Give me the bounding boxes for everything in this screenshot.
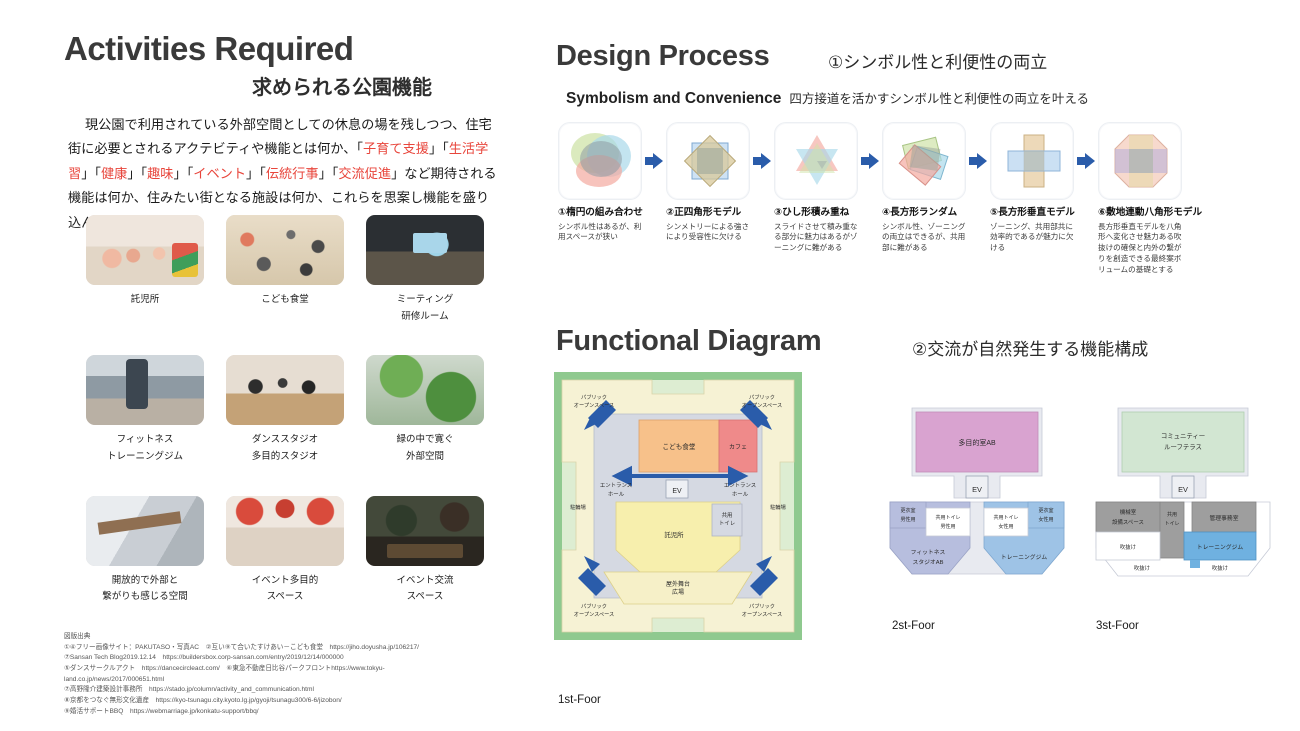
- step-title: ⑥敷地連動八角形モデル: [1098, 207, 1182, 219]
- photo-cell-event-bbq: イベント交流スペース: [366, 496, 484, 606]
- step-shape-square-model-icon: [666, 122, 750, 200]
- svg-text:エントランス: エントランス: [600, 482, 632, 489]
- design-process-subtitle-jp: ①シンボル性と利便性の両立: [828, 48, 1047, 73]
- presentation-board: Activities Required 求められる公園機能 現公園で利用されてい…: [0, 0, 1300, 731]
- photo-caption-line1: 開放的で外部と: [86, 573, 204, 590]
- svg-text:女性用: 女性用: [1038, 516, 1053, 523]
- arrow-right-icon-4: [966, 122, 990, 200]
- photo-row-1: 託児所 こども食堂 ミーティング研修ルーム: [86, 215, 486, 325]
- design-step-4: ④長方形ランダム シンボル性、ゾーニングの両立はできるが、共用部に難がある: [882, 122, 966, 254]
- svg-text:管理事務室: 管理事務室: [1210, 514, 1239, 522]
- svg-text:トイレ: トイレ: [719, 521, 735, 527]
- svg-text:屋外舞台: 屋外舞台: [666, 580, 690, 588]
- floor-plan-1f-caption: 1st-Foor: [558, 694, 601, 706]
- credit-line: ⑨婚活サポートBBQ https://webmarriage.jp/konkat…: [64, 707, 534, 718]
- photo-caption-line1: イベント多目的: [226, 573, 344, 590]
- svg-text:スタジオAB: スタジオAB: [913, 558, 944, 566]
- step-shape-rectangle-vertical-icon: [990, 122, 1074, 200]
- credit-line: land.co.jp/news/2017/000651.html: [64, 675, 534, 686]
- functional-diagram-title: Functional Diagram: [556, 325, 821, 358]
- lead-part-2: 」「: [429, 141, 449, 156]
- photo-cell-dance-studio: ダンススタジオ多目的スタジオ: [226, 355, 344, 465]
- keyword-exchange: 交流促進: [338, 166, 391, 181]
- credit-line: ⑤ダンスサークルアクト https://dancecircleact.com/ …: [64, 664, 534, 675]
- credit-line: ⑦高野隆介建築設計事務所 https://stado.jp/column/act…: [64, 685, 534, 696]
- step-title: ③ひし形積み重ね: [774, 207, 858, 219]
- design-process-steps: ①楕円の組み合わせ シンボル性はあるが、利用スペースが狭い ②正四角形モデル シ…: [558, 122, 1182, 275]
- photo-cell-nursery: 託児所: [86, 215, 204, 325]
- photo-caption-line2: 繋がりも感じる空間: [86, 589, 204, 606]
- symbolism-jp: 四方接道を活かすシンボル性と利便性の両立を叶える: [789, 92, 1089, 106]
- page-subtitle-jp: 求められる公園機能: [252, 71, 432, 100]
- symbolism-en: Symbolism and Convenience: [566, 90, 781, 107]
- svg-text:フィットネス: フィットネス: [911, 549, 946, 556]
- photo-row-3: 開放的で外部と繋がりも感じる空間 イベント多目的スペース イベント交流スペース: [86, 496, 486, 606]
- svg-text:ルーフテラス: ルーフテラス: [1164, 443, 1202, 451]
- svg-text:共用トイレ: 共用トイレ: [993, 514, 1018, 521]
- step-description: シンメトリーによる強さにより受容性に欠ける: [666, 222, 752, 244]
- event-space-photo: [226, 496, 344, 566]
- step-description: スライドさせて積み重なる部分に魅力はあるがゾーニングに難がある: [774, 222, 860, 254]
- photo-cell-open-stair: 開放的で外部と繋がりも感じる空間: [86, 496, 204, 606]
- photo-caption-line2: スペース: [226, 589, 344, 606]
- arrow-right-icon-1: [642, 122, 666, 200]
- svg-text:トレーニングジム: トレーニングジム: [1197, 543, 1244, 551]
- photo-caption-line2: 外部空間: [366, 449, 484, 466]
- svg-text:駐輪場: 駐輪場: [770, 503, 786, 511]
- floor-plan-3f-caption: 3st-Foor: [1096, 620, 1139, 632]
- svg-text:EV: EV: [972, 485, 982, 494]
- arrow-right-icon-3: [858, 122, 882, 200]
- step-title: ④長方形ランダム: [882, 207, 966, 219]
- svg-text:パブリック: パブリック: [581, 393, 607, 401]
- svg-text:託児所: 託児所: [664, 530, 684, 539]
- svg-text:吹抜け: 吹抜け: [1134, 564, 1150, 572]
- photo-caption-line2: 研修ルーム: [366, 309, 484, 326]
- photo-caption-line1: ダンススタジオ: [226, 432, 344, 449]
- svg-text:こども食堂: こども食堂: [663, 442, 696, 451]
- svg-text:共用: 共用: [722, 511, 733, 519]
- photo-caption-line1: フィットネス: [86, 432, 204, 449]
- svg-text:女性用: 女性用: [998, 523, 1013, 530]
- photo-caption-line1: ミーティング: [366, 292, 484, 309]
- activity-photo-grid: 託児所 こども食堂 ミーティング研修ルーム フィットネストレーニングジム: [86, 215, 486, 614]
- keyword-childcare: 子育て支援: [363, 141, 429, 156]
- design-step-6: ⑥敷地連動八角形モデル 長方形垂直モデルを八角形へ変化させ魅力ある吹抜けの確保と…: [1098, 122, 1182, 275]
- step-shape-ellipses-overlay-icon: [558, 122, 642, 200]
- step-shape-octagon-site-linked-icon: [1098, 122, 1182, 200]
- photo-caption-line1: イベント交流: [366, 573, 484, 590]
- step-title: ①楕円の組み合わせ: [558, 207, 642, 219]
- photo-cell-meeting-room: ミーティング研修ルーム: [366, 215, 484, 325]
- svg-text:多目的室AB: 多目的室AB: [958, 438, 996, 447]
- svg-text:ホール: ホール: [732, 491, 749, 498]
- photo-cell-kids-cafeteria: こども食堂: [226, 215, 344, 325]
- keyword-tradition: 伝統行事: [266, 166, 319, 181]
- photo-caption-line1: こども食堂: [226, 292, 344, 309]
- photo-caption-line1: 緑の中で寛ぐ: [366, 432, 484, 449]
- symbolism-subheading: Symbolism and Convenience四方接道を活かすシンボル性と利…: [566, 88, 1089, 108]
- photo-cell-event-space: イベント多目的スペース: [226, 496, 344, 606]
- keyword-health: 健康: [101, 166, 127, 181]
- floor-plan-2f: 多目的室AB EV 更衣室 男性用 更衣室 女性用 共用トイレ 男性用 共用トイ…: [882, 398, 1072, 598]
- svg-text:広場: 広場: [672, 588, 684, 596]
- meeting-room-photo: [366, 215, 484, 285]
- svg-text:設備スペース: 設備スペース: [1112, 518, 1144, 526]
- svg-text:吹抜け: 吹抜け: [1212, 564, 1228, 572]
- photo-caption-line1: 託児所: [86, 292, 204, 309]
- design-step-3: ③ひし形積み重ね スライドさせて積み重なる部分に魅力はあるがゾーニングに難がある: [774, 122, 858, 254]
- step-shape-rhombus-stack-icon: [774, 122, 858, 200]
- step-description: 長方形垂直モデルを八角形へ変化させ魅力ある吹抜けの確保と内外の繋がりを創造できる…: [1098, 222, 1184, 276]
- svg-text:EV: EV: [1178, 485, 1188, 494]
- svg-text:吹抜け: 吹抜け: [1120, 543, 1136, 551]
- arrow-right-icon-5: [1074, 122, 1098, 200]
- svg-text:エントランス: エントランス: [724, 482, 756, 489]
- lead-part-3: 」「: [81, 166, 101, 181]
- svg-text:コミュニティー: コミュニティー: [1161, 432, 1205, 440]
- photo-cell-fitness: フィットネストレーニングジム: [86, 355, 204, 465]
- svg-text:更衣室: 更衣室: [1038, 507, 1053, 514]
- step-title: ②正四角形モデル: [666, 207, 750, 219]
- page-title: Activities Required: [64, 30, 353, 68]
- kids-cafeteria-photo: [226, 215, 344, 285]
- svg-text:男性用: 男性用: [900, 516, 915, 523]
- figure-credits: 図版出典 ①④フリー画像サイト：PAKUTASO・写真AC ②互い⑨て合いたすけ…: [64, 632, 534, 717]
- step-description: シンボル性、ゾーニングの両立はできるが、共用部に難がある: [882, 222, 968, 254]
- lead-part-4: 」「: [127, 166, 147, 181]
- svg-text:パブリック: パブリック: [749, 602, 775, 610]
- functional-diagram-subtitle-jp: ②交流が自然発生する機能構成: [912, 335, 1148, 360]
- step-description: ゾーニング、共用部共に効率的であるが魅力に欠ける: [990, 222, 1076, 254]
- credit-line: ⑦Sansan Tech Blog2019.12.14 https://buil…: [64, 653, 534, 664]
- arrow-right-icon-2: [750, 122, 774, 200]
- floor-plan-2f-caption: 2st-Foor: [892, 620, 935, 632]
- open-stair-photo: [86, 496, 204, 566]
- step-shape-rectangle-random-icon: [882, 122, 966, 200]
- nursery-photo: [86, 215, 204, 285]
- photo-caption-line2: 多目的スタジオ: [226, 449, 344, 466]
- photo-caption-line2: スペース: [366, 589, 484, 606]
- design-process-title: Design Process: [556, 40, 769, 73]
- greenery-photo: [366, 355, 484, 425]
- svg-text:更衣室: 更衣室: [900, 507, 915, 514]
- right-column: Design Process ①シンボル性と利便性の両立 Symbolism a…: [540, 0, 1300, 731]
- svg-text:パブリック: パブリック: [749, 393, 775, 401]
- svg-text:EV: EV: [672, 488, 682, 495]
- event-bbq-photo: [366, 496, 484, 566]
- svg-text:共用トイレ: 共用トイレ: [935, 514, 960, 521]
- svg-text:オープンスペース: オープンスペース: [742, 611, 782, 618]
- design-step-5: ⑤長方形垂直モデル ゾーニング、共用部共に効率的であるが魅力に欠ける: [990, 122, 1074, 254]
- lead-part-5: 」「: [174, 166, 194, 181]
- design-step-1: ①楕円の組み合わせ シンボル性はあるが、利用スペースが狭い: [558, 122, 642, 243]
- svg-text:トレーニングジム: トレーニングジム: [1001, 553, 1048, 561]
- photo-row-2: フィットネストレーニングジム ダンススタジオ多目的スタジオ 緑の中で寛ぐ外部空間: [86, 355, 486, 465]
- fitness-photo: [86, 355, 204, 425]
- svg-text:機械室: 機械室: [1120, 508, 1137, 516]
- svg-text:ホール: ホール: [608, 491, 625, 498]
- lead-part-6: 」「: [246, 166, 266, 181]
- svg-text:オープンスペース: オープンスペース: [574, 402, 614, 409]
- credit-line: ①④フリー画像サイト：PAKUTASO・写真AC ②互い⑨て合いたすけあい－こど…: [64, 643, 534, 654]
- photo-cell-greenery: 緑の中で寛ぐ外部空間: [366, 355, 484, 465]
- svg-text:駐輪場: 駐輪場: [570, 503, 586, 511]
- keyword-hobby: 趣味: [147, 166, 173, 181]
- lead-part-7: 」「: [319, 166, 339, 181]
- activities-required-section: Activities Required 求められる公園機能 現公園で利用されてい…: [0, 0, 540, 731]
- credits-heading: 図版出典: [64, 632, 534, 643]
- svg-text:パブリック: パブリック: [581, 602, 607, 610]
- svg-text:カフェ: カフェ: [729, 444, 747, 451]
- svg-text:共用: 共用: [1167, 511, 1177, 518]
- dance-studio-photo: [226, 355, 344, 425]
- credit-line: ⑧京都をつなぐ無形文化遺産 https://kyo-tsunagu.city.k…: [64, 696, 534, 707]
- svg-text:オープンスペース: オープンスペース: [742, 402, 782, 409]
- photo-caption-line2: トレーニングジム: [86, 449, 204, 466]
- step-description: シンボル性はあるが、利用スペースが狭い: [558, 222, 644, 244]
- svg-text:トイレ: トイレ: [1164, 521, 1179, 527]
- floor-plan-3f: コミュニティー ルーフテラス EV 機械室 設備スペース 共用 トイレ 管理事務…: [1086, 398, 1278, 600]
- svg-text:オープンスペース: オープンスペース: [574, 611, 614, 618]
- floor-plan-1f: こども食堂 カフェ EV 共用 トイレ 託児所 屋外舞台 広場 エントランス ホ…: [554, 372, 802, 640]
- keyword-event: イベント: [193, 166, 246, 181]
- svg-text:男性用: 男性用: [940, 523, 955, 530]
- step-title: ⑤長方形垂直モデル: [990, 207, 1074, 219]
- design-step-2: ②正四角形モデル シンメトリーによる強さにより受容性に欠ける: [666, 122, 750, 243]
